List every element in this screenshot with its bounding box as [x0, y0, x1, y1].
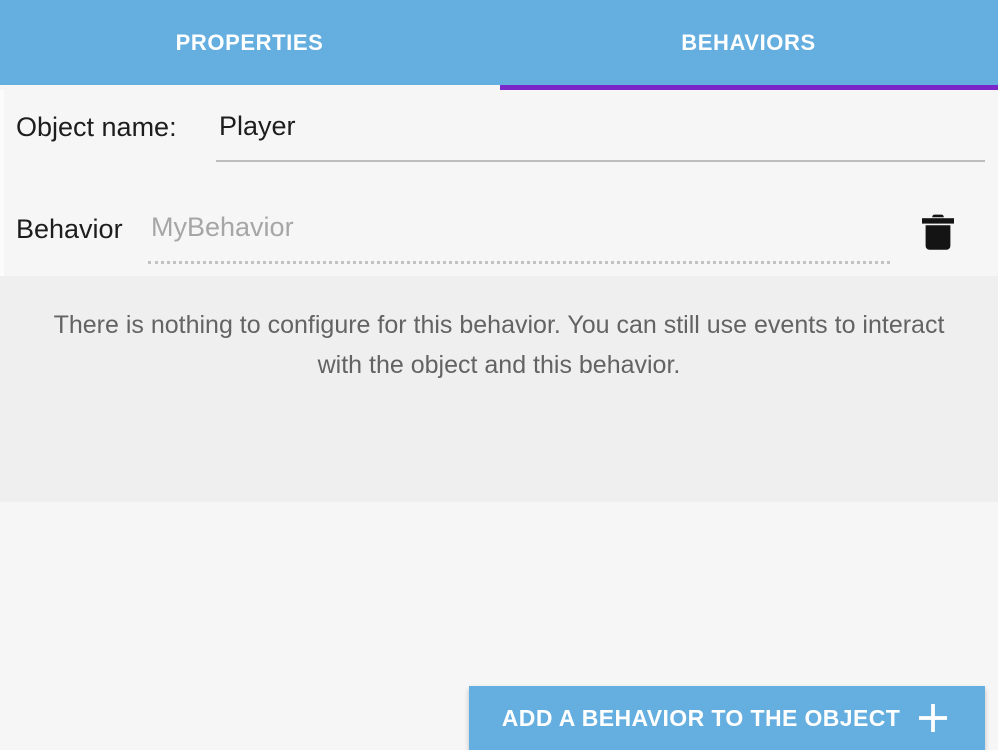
tab-bar: PROPERTIES BEHAVIORS: [0, 0, 998, 85]
tab-properties-label: PROPERTIES: [176, 30, 324, 56]
trash-icon: [921, 213, 955, 254]
behavior-label: Behavior: [16, 214, 123, 245]
empty-state-message: There is nothing to configure for this b…: [40, 305, 958, 385]
tab-behaviors[interactable]: BEHAVIORS: [499, 0, 998, 85]
add-behavior-button-label: Add a behavior to the object: [502, 705, 900, 732]
plus-icon: [918, 703, 948, 733]
object-name-row: Object name: Player: [0, 90, 998, 180]
object-name-label: Object name:: [16, 112, 177, 143]
add-behavior-button[interactable]: Add a behavior to the object: [469, 686, 985, 750]
behavior-row: Behavior MyBehavior: [0, 186, 998, 276]
behavior-name-placeholder: MyBehavior: [151, 212, 294, 243]
object-name-input[interactable]: Player: [216, 108, 985, 162]
tab-behaviors-label: BEHAVIORS: [681, 30, 816, 56]
behavior-name-input[interactable]: MyBehavior: [148, 208, 890, 264]
delete-behavior-button[interactable]: [914, 209, 962, 257]
behaviors-panel: PROPERTIES BEHAVIORS Object name: Player…: [0, 0, 998, 502]
tab-properties[interactable]: PROPERTIES: [0, 0, 499, 85]
object-name-value: Player: [219, 111, 296, 142]
empty-state-panel: There is nothing to configure for this b…: [0, 276, 998, 502]
